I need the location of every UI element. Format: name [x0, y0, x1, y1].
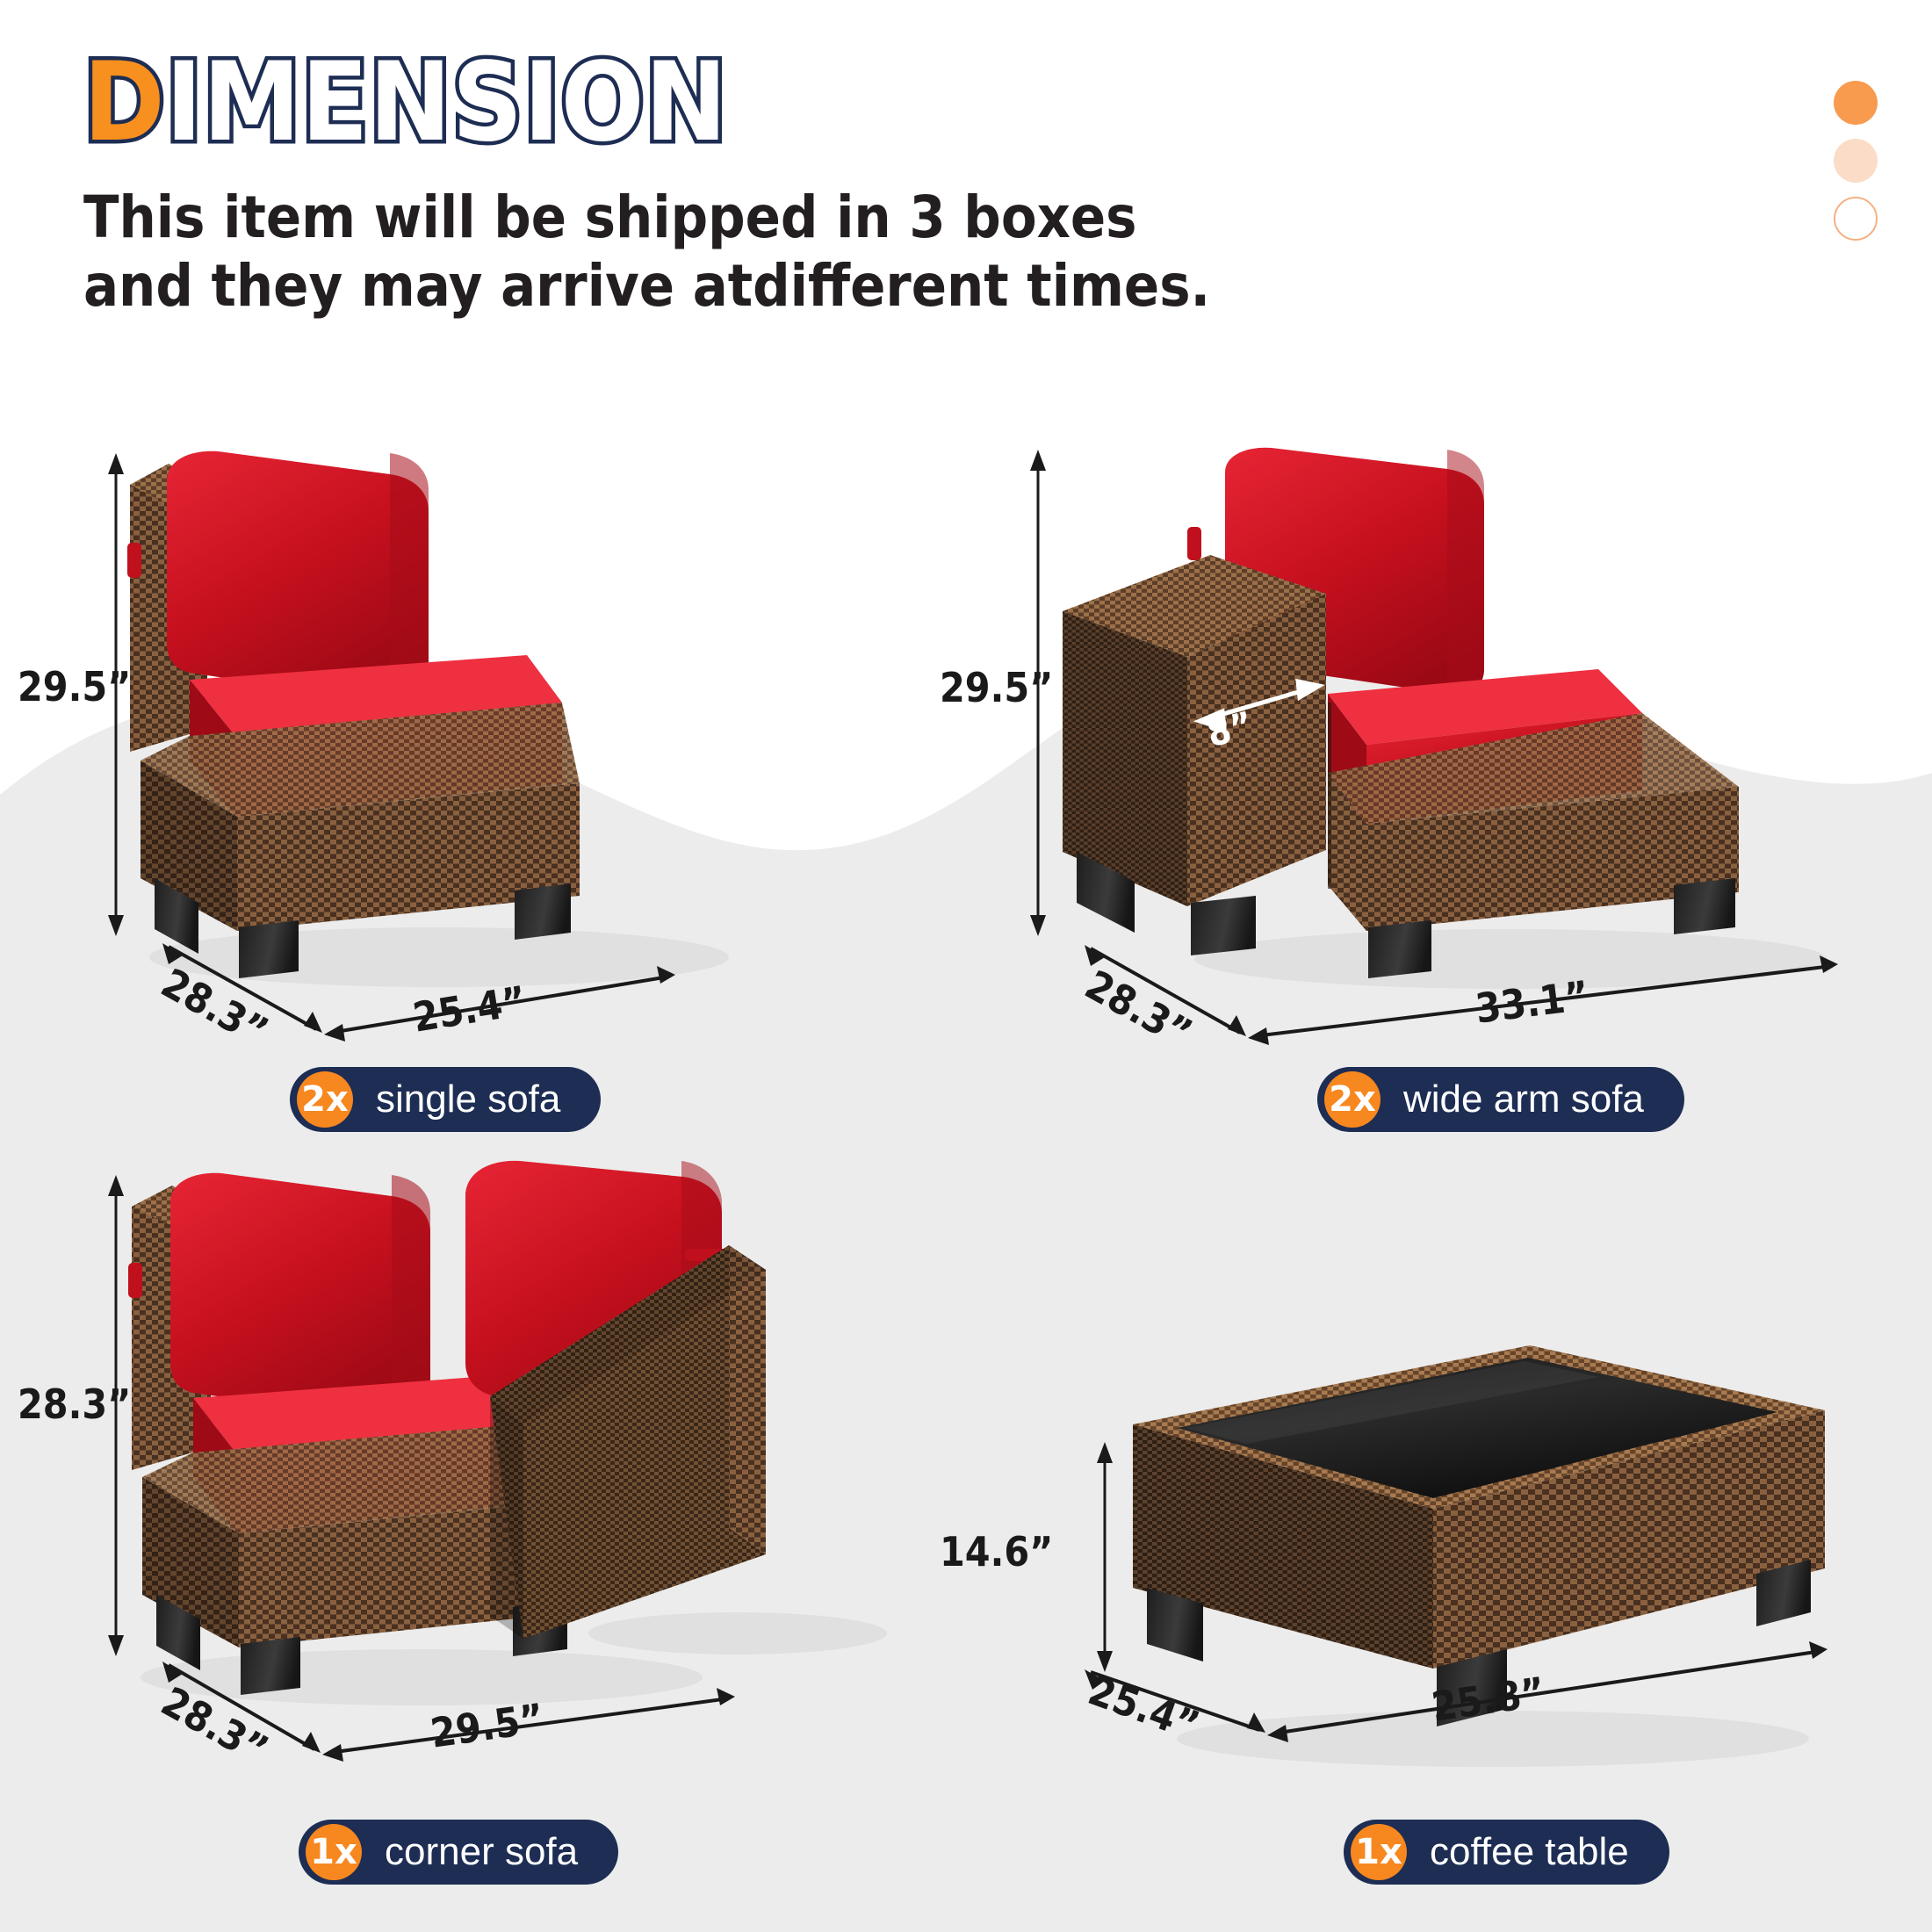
- coffee-table-illustration: [1036, 1300, 1914, 1844]
- dimension-infographic: DIMENSION This item will be shipped in 3…: [0, 0, 1932, 1932]
- coffee-table-height-label: 14.6”: [940, 1528, 1053, 1575]
- product-panel-coffee-table: 14.6” 25.4” 25.8”: [1036, 1300, 1914, 1844]
- title-rest: IMENSION: [166, 40, 728, 166]
- subtitle-line-1: This item will be shipped in 3 boxes: [83, 184, 1210, 252]
- subtitle-line-2: and they may arrive atdifferent times.: [83, 252, 1210, 321]
- badge-quantity-wide-arm-sofa: 2x: [1324, 1071, 1381, 1128]
- subtitle: This item will be shipped in 3 boxes and…: [83, 184, 1210, 321]
- product-panel-wide-arm-sofa: 29.5” 8” 28.3” 33.1”: [1036, 439, 1914, 1054]
- corner-sofa-height-label: 28.3”: [18, 1381, 131, 1428]
- badge-label-wide-arm-sofa: wide arm sofa: [1403, 1078, 1644, 1121]
- product-panel-corner-sofa: 28.3” 28.3” 29.5”: [35, 1142, 1001, 1844]
- badge-quantity-single-sofa: 2x: [297, 1071, 353, 1128]
- page-title: DIMENSION: [83, 48, 1210, 157]
- title-first-letter: D: [83, 40, 166, 166]
- dot-hollow-icon: [1834, 197, 1878, 241]
- badge-quantity-corner-sofa: 1x: [306, 1824, 362, 1880]
- badge-label-corner-sofa: corner sofa: [385, 1830, 578, 1874]
- badge-quantity-coffee-table: 1x: [1351, 1824, 1407, 1880]
- badge-coffee-table[interactable]: 1x coffee table: [1344, 1820, 1669, 1885]
- wide-arm-sofa-height-label: 29.5”: [940, 664, 1053, 711]
- badge-wide-arm-sofa[interactable]: 2x wide arm sofa: [1317, 1067, 1684, 1132]
- badge-corner-sofa[interactable]: 1x corner sofa: [299, 1820, 618, 1885]
- badge-single-sofa[interactable]: 2x single sofa: [290, 1067, 601, 1132]
- single-sofa-height-label: 29.5”: [18, 663, 131, 710]
- dot-solid-icon: [1834, 81, 1878, 125]
- corner-dots: [1834, 81, 1878, 241]
- wide-arm-sofa-illustration: [1036, 439, 1914, 1054]
- header: DIMENSION This item will be shipped in 3…: [83, 48, 1210, 321]
- badge-label-coffee-table: coffee table: [1430, 1830, 1629, 1874]
- product-panel-single-sofa: 29.5” 28.3” 25.4”: [35, 439, 966, 1054]
- dot-faded-icon: [1834, 139, 1878, 183]
- badge-label-single-sofa: single sofa: [376, 1078, 560, 1121]
